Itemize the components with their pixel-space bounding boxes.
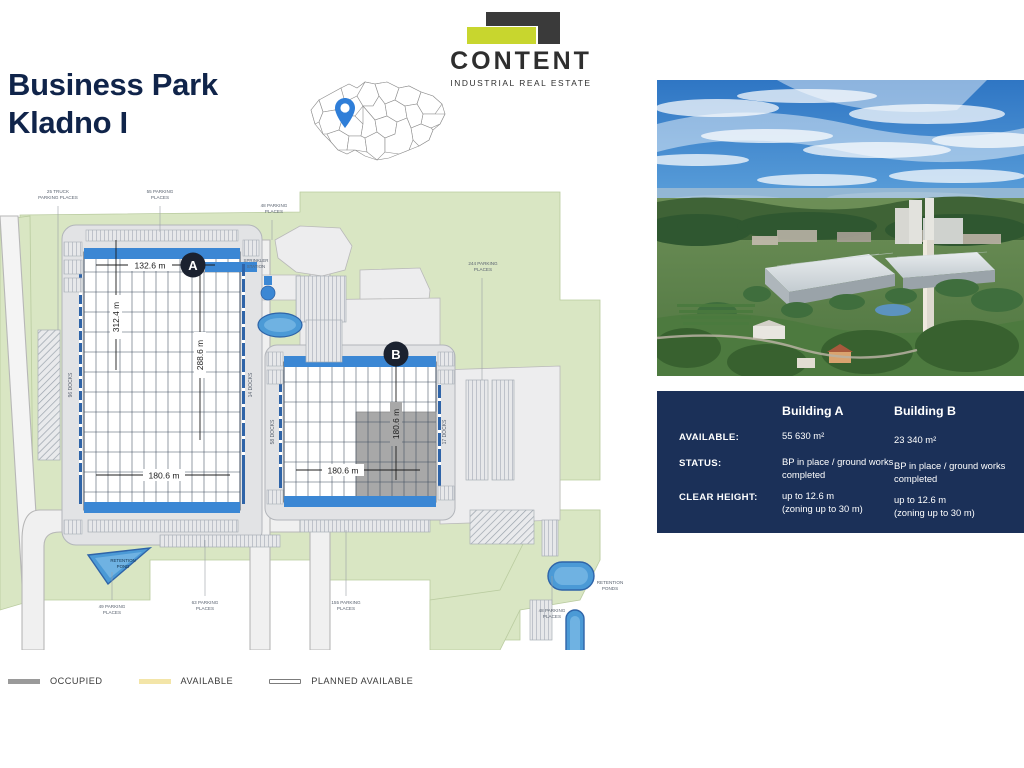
building-a-available: 55 630 m² <box>782 430 894 443</box>
building-a-top-band <box>84 248 240 259</box>
marker-a-label: A <box>188 258 198 273</box>
label-retention-ponds-line1: RETENTION <box>597 580 624 585</box>
building-b-heading: Building B <box>894 403 1006 419</box>
label-sprinkler-line1: SPRINKLER <box>244 258 269 263</box>
legend-swatch-planned-available <box>269 679 301 684</box>
legend-swatch-occupied <box>8 679 40 684</box>
callout-4-line2: PLACES <box>103 610 121 615</box>
legend-item-available: AVAILABLE <box>139 676 234 686</box>
label-docks-b-left: 58 DOCKS <box>270 419 276 444</box>
content-logo: CONTENT INDUSTRIAL REAL ESTATE <box>446 12 596 82</box>
building-a-heading: Building A <box>782 403 894 419</box>
marker-b[interactable]: B <box>384 342 409 367</box>
building-a-clear-height: up to 12.6 m (zoning up to 30 m) <box>782 490 894 515</box>
logo-dark-block <box>538 12 560 44</box>
legend-swatch-available <box>139 679 171 684</box>
aerial-photo <box>657 80 1024 376</box>
locator-map <box>305 72 450 167</box>
dim-a-left-height: 312.4 m <box>111 302 121 332</box>
callout-3-line1: 244 PARKING <box>468 261 498 266</box>
building-a-status: BP in place / ground works completed <box>782 456 894 481</box>
callout-7-line2: PLACES <box>543 614 561 619</box>
info-label-spacer <box>679 403 782 419</box>
info-label-status: STATUS: <box>679 456 782 481</box>
building-b-clear-height-line2: (zoning up to 30 m) <box>894 507 1006 519</box>
label-docks-b-right: 17 DOCKS <box>442 419 448 444</box>
dim-a-mid-height: 288.6 m <box>195 340 205 370</box>
map-legend: OCCUPIED AVAILABLE PLANNED AVAILABLE <box>8 676 449 686</box>
callout-0-line2: PARKING PLACES <box>38 195 78 200</box>
info-label-clear-height: CLEAR HEIGHT: <box>679 490 782 515</box>
callout-4-line1: 49 PARKING <box>99 604 126 609</box>
page-title: Business Park Kladno I <box>8 66 218 142</box>
building-b-available: 23 340 m² <box>894 434 1006 447</box>
callout-1-line2: PLACES <box>151 195 169 200</box>
marker-b-label: B <box>391 347 400 362</box>
callout-2-line1: 48 PARKING <box>261 203 288 208</box>
logo-lime-bar <box>467 27 536 44</box>
building-a-clear-height-line2: (zoning up to 30 m) <box>782 503 894 515</box>
legend-label-occupied: OCCUPIED <box>50 676 103 686</box>
building-a-bottom-band <box>84 502 240 513</box>
callout-5-line2: PLACES <box>196 606 214 611</box>
page-title-line2: Kladno I <box>8 104 218 142</box>
page-title-line1: Business Park <box>8 66 218 104</box>
label-docks-a-left: 96 DOCKS <box>68 372 74 397</box>
dim-a-bottom-width: 180.6 m <box>148 471 179 481</box>
callout-5-line1: 63 PARKING <box>192 600 219 605</box>
callout-6-line2: PLACES <box>337 606 355 611</box>
building-b-bottom-band <box>284 496 436 507</box>
building-b-clear-height: up to 12.6 m (zoning up to 30 m) <box>894 494 1006 519</box>
callout-1-line1: 55 PARKING <box>147 189 174 194</box>
label-retention-pond-line2: POND <box>117 564 130 569</box>
building-info-panel: Building A Building B AVAILABLE: 55 630 … <box>657 391 1024 533</box>
legend-item-occupied: OCCUPIED <box>8 676 103 686</box>
callout-7-line1: 48 PARKING <box>539 608 566 613</box>
logo-wordmark: CONTENT <box>446 49 596 74</box>
legend-label-available: AVAILABLE <box>181 676 234 686</box>
info-label-available: AVAILABLE: <box>679 430 782 443</box>
callout-6-line1: 155 PARKING <box>331 600 361 605</box>
callout-2-line2: PLACES <box>265 209 283 214</box>
callout-3-line2: PLACES <box>474 267 492 272</box>
label-sprinkler-line2: STATION <box>247 264 265 269</box>
dim-a-top-width: 132.6 m <box>134 261 165 271</box>
building-b-clear-height-line1: up to 12.6 m <box>894 494 1006 506</box>
marker-a[interactable]: A <box>181 253 206 278</box>
site-plan: 132.6 m 312.4 m 288.6 m 180.6 m 96 DOCKS… <box>0 180 650 650</box>
label-retention-ponds-line2: PONDS <box>602 586 618 591</box>
legend-label-planned-available: PLANNED AVAILABLE <box>311 676 413 686</box>
building-a-clear-height-line1: up to 12.6 m <box>782 490 894 502</box>
label-docks-a-right: 14 DOCKS <box>248 372 254 397</box>
logo-mark-icon <box>446 12 596 46</box>
building-b-status: BP in place / ground works completed <box>894 460 1006 485</box>
callout-0-line1: 25 TRUCK <box>47 189 70 194</box>
legend-item-planned-available: PLANNED AVAILABLE <box>269 676 413 686</box>
logo-tagline: INDUSTRIAL REAL ESTATE <box>446 78 596 88</box>
label-retention-pond-line1: RETENTION <box>110 558 135 563</box>
dim-b-bottom-width: 180.6 m <box>327 466 358 476</box>
